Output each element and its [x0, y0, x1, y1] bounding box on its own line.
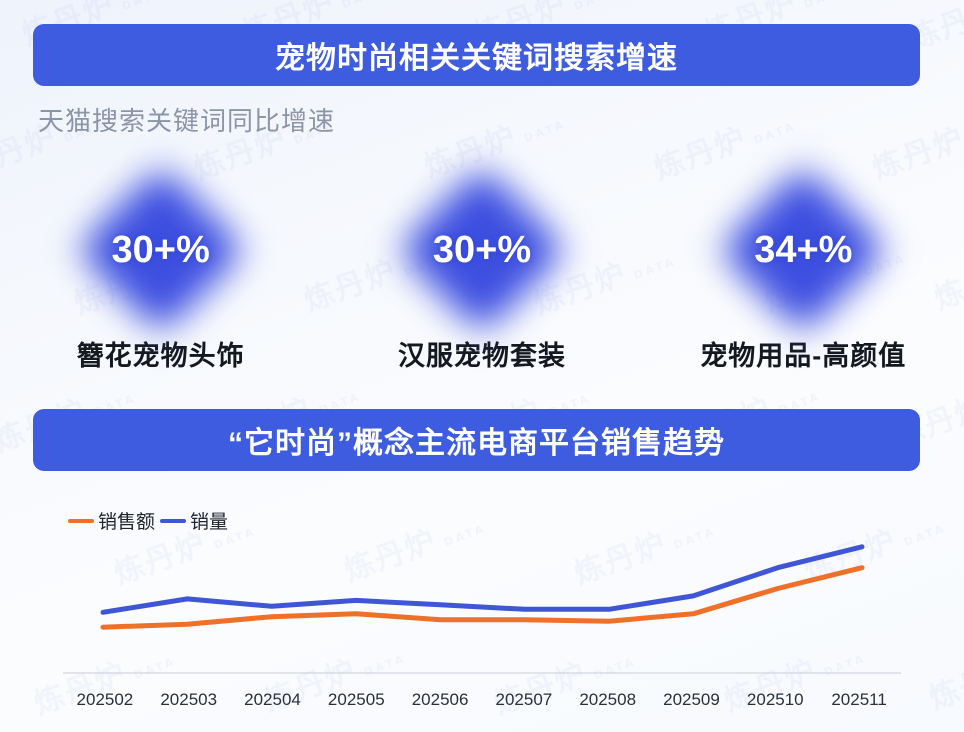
badge-percentage: 34+% — [754, 229, 852, 272]
x-axis-tick-label: 202509 — [650, 690, 734, 710]
badge-item: 34+% 宠物用品-高颜值 — [643, 150, 964, 390]
sales-trend-chart: 销售额 销量 202502202503202504202505202506202… — [0, 495, 964, 732]
badge-item: 30+% 簪花宠物头饰 — [0, 150, 321, 390]
x-axis-tick-label: 202507 — [482, 690, 566, 710]
section-title-sales-trend: “它时尚”概念主流电商平台销售趋势 — [33, 409, 920, 471]
badge-group: 30+% 簪花宠物头饰 30+% 汉服宠物套装 34+% 宠物用品-高颜值 — [0, 150, 964, 390]
legend-label: 销售额 — [98, 507, 155, 534]
x-axis-tick-label: 202506 — [398, 690, 482, 710]
x-axis-tick-label: 202511 — [817, 690, 901, 710]
diamond-badge: 34+% — [698, 150, 908, 350]
x-axis-tick-label: 202502 — [63, 690, 147, 710]
legend-label: 销量 — [190, 507, 228, 534]
subtitle-tmall-search: 天猫搜索关键词同比增速 — [38, 101, 335, 138]
diamond-badge: 30+% — [56, 150, 266, 350]
legend-item-sales-amount[interactable]: 销售额 — [68, 507, 155, 534]
section-title-search-growth: 宠物时尚相关关键词搜索增速 — [33, 24, 920, 86]
chart-line-series — [103, 547, 862, 613]
legend-swatch-icon — [160, 519, 186, 523]
badge-percentage: 30+% — [433, 229, 531, 272]
x-axis-tick-label: 202505 — [314, 690, 398, 710]
x-axis-tick-label: 202503 — [147, 690, 231, 710]
section-title-text: 宠物时尚相关关键词搜索增速 — [275, 33, 678, 77]
legend-swatch-icon — [68, 519, 94, 523]
section-title-text: “它时尚”概念主流电商平台销售趋势 — [228, 418, 725, 462]
x-axis-tick-label: 202504 — [231, 690, 315, 710]
badge-percentage: 30+% — [112, 229, 210, 272]
x-axis-tick-label: 202510 — [733, 690, 817, 710]
chart-legend: 销售额 销量 — [68, 507, 228, 534]
chart-x-axis: 2025022025032025042025052025062025072025… — [63, 690, 901, 710]
diamond-badge: 30+% — [377, 150, 587, 350]
x-axis-tick-label: 202508 — [566, 690, 650, 710]
legend-item-sales-volume[interactable]: 销量 — [160, 507, 228, 534]
badge-item: 30+% 汉服宠物套装 — [321, 150, 642, 390]
